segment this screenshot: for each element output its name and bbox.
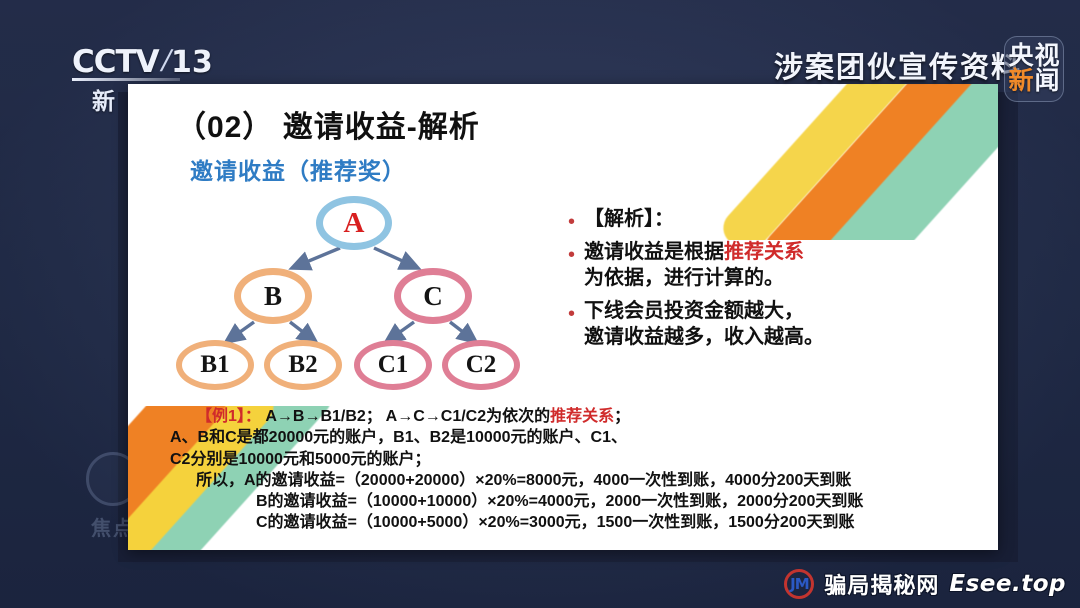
- bullet-text-1: 【解析】：: [584, 206, 674, 232]
- bullet-dot-icon: •: [568, 304, 575, 324]
- bullet-text-2-part-b: 为依据，进行计算的。: [584, 267, 784, 289]
- example-line-1-text: A→B→B1/B2； A→C→C1/C2为依次的: [261, 408, 550, 425]
- edge-c-c1: [386, 322, 414, 342]
- tree-node-b2: B2: [264, 340, 342, 390]
- watermark-char-wen: 闻: [1035, 69, 1060, 95]
- bullet-text-2: 邀请收益是根据推荐关系 为依据，进行计算的。: [584, 239, 804, 291]
- site-logo-text: JM: [790, 575, 809, 593]
- broadcast-header-title: 涉案团伙宣传资料: [774, 44, 1022, 86]
- broadcast-screen: CCTV / 13 新闻 涉案团伙宣传资料 央 视 新 闻 焦点: [0, 0, 1080, 608]
- tree-node-b1: B1: [176, 340, 254, 390]
- site-logo-icon: JM: [784, 569, 814, 599]
- slide-content: （02） 邀请收益-解析 邀请收益（推荐奖）: [128, 84, 998, 550]
- cctv-channel-logo: CCTV / 13: [72, 44, 213, 80]
- example-line-5: B的邀请收益=（10000+10000）×20%=4000元，2000一次性到账…: [170, 491, 960, 512]
- example-line-3: C2分别是10000元和5000元的账户；: [170, 449, 960, 470]
- example-line-2: A、B和C是都20000元的账户，B1、B2是10000元的账户、C1、: [170, 427, 960, 448]
- presentation-slide: （02） 邀请收益-解析 邀请收益（推荐奖）: [128, 84, 998, 550]
- cctv-wordmark: CCTV: [72, 44, 159, 80]
- example-line-1-highlight: 推荐关系: [550, 408, 614, 425]
- bullet-item-1: • 【解析】：: [568, 206, 968, 232]
- bullet-text-3: 下线会员投资金额越大， 邀请收益越多，收入越高。: [584, 298, 824, 350]
- watermark-char-shi: 视: [1035, 44, 1060, 70]
- example-line-1: 【例1】： A→B→B1/B2； A→C→C1/C2为依次的推荐关系；: [170, 406, 960, 427]
- bullet-dot-icon: •: [568, 212, 575, 232]
- site-name-cn: 骗局揭秘网: [824, 568, 939, 600]
- tree-node-c2: C2: [442, 340, 520, 390]
- example-line-4: 所以，A的邀请收益=（20000+20000）×20%=8000元，4000一次…: [170, 470, 960, 491]
- referral-tree-diagram: A B C B1 B2 C1 C2: [168, 192, 548, 402]
- example-line-1-tail: ；: [614, 408, 630, 425]
- watermark-line-2: 新 闻: [1008, 69, 1059, 95]
- explanation-bullet-list: • 【解析】： • 邀请收益是根据推荐关系 为依据，进行计算的。 • 下线会员投…: [568, 206, 968, 357]
- bullet-text-2-part-a: 邀请收益是根据: [584, 241, 724, 263]
- bullet-text-2-highlight: 推荐关系: [724, 241, 804, 263]
- example-block: 【例1】： A→B→B1/B2； A→C→C1/C2为依次的推荐关系； A、B和…: [170, 406, 960, 534]
- bullet-item-3: • 下线会员投资金额越大， 邀请收益越多，收入越高。: [568, 298, 968, 350]
- site-watermark: JM 骗局揭秘网 Esee.top: [784, 568, 1066, 600]
- edge-c-c2: [450, 322, 476, 342]
- cctv-logo-underline: [72, 78, 180, 81]
- bullet-item-2: • 邀请收益是根据推荐关系 为依据，进行计算的。: [568, 239, 968, 291]
- tree-node-a: A: [316, 196, 392, 250]
- example-line-6: C的邀请收益=（10000+5000）×20%=3000元，1500一次性到账，…: [170, 512, 960, 533]
- cctv-news-watermark: 央 视 新 闻: [1004, 36, 1064, 102]
- slide-title: （02） 邀请收益-解析: [176, 102, 480, 146]
- watermark-line-1: 央 视: [1008, 44, 1059, 70]
- edge-b-b1: [226, 322, 254, 342]
- bullet-dot-icon: •: [568, 245, 575, 265]
- watermark-char-yang: 央: [1008, 44, 1033, 70]
- edge-a-c: [374, 248, 418, 268]
- site-name-en: Esee.top: [949, 571, 1066, 597]
- tree-node-c: C: [394, 268, 472, 324]
- slide-subtitle: 邀请收益（推荐奖）: [190, 152, 406, 186]
- tree-node-b: B: [234, 268, 312, 324]
- edge-b-b2: [290, 322, 316, 342]
- cctv-channel-number: 13: [171, 45, 213, 80]
- edge-a-b: [292, 248, 340, 268]
- watermark-char-xin: 新: [1008, 69, 1033, 95]
- tree-node-c1: C1: [354, 340, 432, 390]
- example-label: 【例1】：: [196, 408, 261, 425]
